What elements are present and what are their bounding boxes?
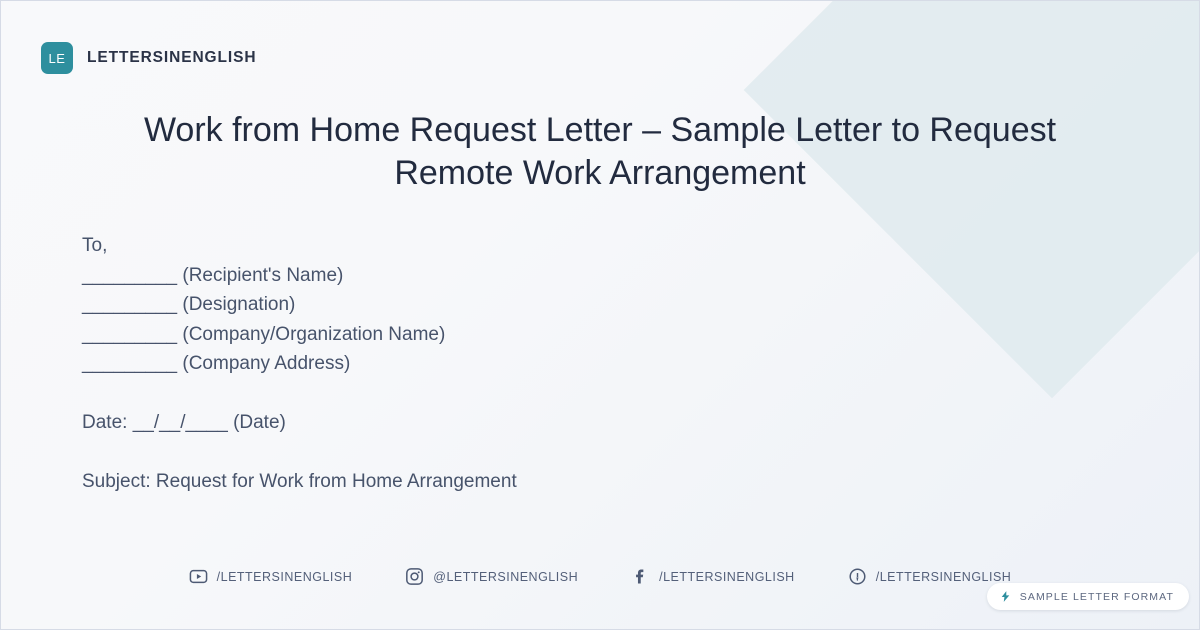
letter-preview-card: LE LETTERSINENGLISH Work from Home Reque…: [0, 0, 1200, 630]
social-link-pinterest[interactable]: /LETTERSINENGLISH: [848, 567, 1012, 586]
letter-line: _________ (Company Address): [82, 349, 517, 379]
letter-spacer: [82, 379, 517, 409]
status-badge: SAMPLE LETTER FORMAT: [987, 583, 1189, 610]
page-title: Work from Home Request Letter – Sample L…: [81, 109, 1119, 195]
social-link-label: /LETTERSINENGLISH: [217, 570, 353, 584]
letter-line: _________ (Designation): [82, 290, 517, 320]
social-link-label: @LETTERSINENGLISH: [433, 570, 578, 584]
social-link-facebook[interactable]: /LETTERSINENGLISH: [631, 567, 795, 586]
instagram-icon: [405, 567, 424, 586]
brand-logo[interactable]: LE LETTERSINENGLISH: [41, 42, 256, 74]
brand-mark-icon: LE: [41, 42, 73, 74]
youtube-icon: [189, 567, 208, 586]
facebook-icon: [631, 567, 650, 586]
letter-body: To,_________ (Recipient's Name)_________…: [82, 231, 517, 497]
letter-spacer: [82, 438, 517, 468]
pinterest-icon: [848, 567, 867, 586]
lightning-bolt-icon: [999, 590, 1012, 603]
brand-name-label: LETTERSINENGLISH: [87, 49, 256, 67]
letter-line: Date: __/__/____ (Date): [82, 408, 517, 438]
social-link-label: /LETTERSINENGLISH: [659, 570, 795, 584]
status-badge-label: SAMPLE LETTER FORMAT: [1020, 591, 1174, 603]
social-link-label: /LETTERSINENGLISH: [876, 570, 1012, 584]
letter-line: To,: [82, 231, 517, 261]
letter-line: _________ (Recipient's Name): [82, 261, 517, 291]
decorative-diamond-shape: [744, 0, 1200, 398]
letter-line: Subject: Request for Work from Home Arra…: [82, 467, 517, 497]
letter-line: _________ (Company/Organization Name): [82, 320, 517, 350]
social-link-instagram[interactable]: @LETTERSINENGLISH: [405, 567, 578, 586]
social-link-youtube[interactable]: /LETTERSINENGLISH: [189, 567, 353, 586]
